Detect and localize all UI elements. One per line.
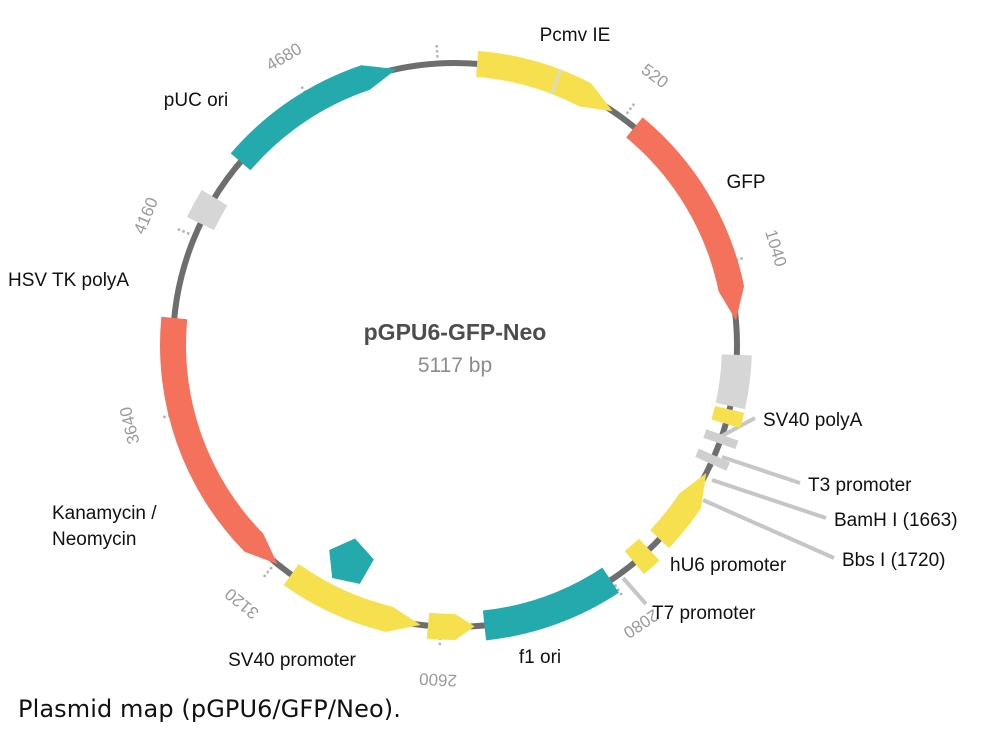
feature-hu6-promoter[interactable] — [650, 473, 706, 548]
plasmid-diagram: 5201040208026003120364041604680 Pcmv IEG… — [0, 0, 982, 692]
feature-label-hu6-promoter: hU6 promoter — [670, 555, 787, 576]
restriction-site-tick[interactable] — [697, 453, 728, 467]
feature-label-t7-promoter: T7 promoter — [652, 603, 756, 624]
feature-label-puc-ori: pUC ori — [164, 90, 228, 111]
plasmid-map-figure: 5201040208026003120364041604680 Pcmv IEG… — [0, 0, 982, 744]
tick-label-3120: 3120 — [221, 584, 262, 623]
feature-label-kanamycin-neomycin: Kanamycin /Neomycin — [52, 503, 157, 550]
position-tick-520 — [627, 103, 635, 114]
orphan-pentagon[interactable] — [324, 534, 378, 586]
leader-line — [703, 500, 834, 558]
feature-label-t3-promoter: T3 promoter — [808, 475, 912, 496]
label-layer: Pcmv IEGFPSV40 polyAT3 promoterhU6 promo… — [8, 25, 958, 671]
feature-kanamycin-neomycin[interactable] — [160, 317, 278, 564]
tick-label-4680: 4680 — [263, 39, 305, 75]
tick-label-3640: 3640 — [116, 405, 144, 446]
feature-gfp[interactable] — [626, 117, 744, 320]
restriction-site-tick[interactable] — [705, 433, 737, 444]
feature-label-sv40-promoter: SV40 promoter — [228, 650, 356, 671]
feature-label-gfp: GFP — [726, 172, 765, 193]
feature-pcmv-ie[interactable] — [476, 51, 613, 111]
tick-label-2600: 2600 — [419, 669, 458, 690]
position-tick-4160 — [176, 228, 189, 233]
feature-puc-ori[interactable] — [231, 65, 397, 170]
feature-layer — [160, 51, 752, 640]
leader-line — [722, 457, 800, 483]
figure-caption: Plasmid map (pGPU6/GFP/Neo). — [18, 695, 401, 723]
feature-label-sv40-polya: SV40 polyA — [763, 410, 863, 431]
tick-label-1040: 1040 — [761, 227, 790, 269]
tick-label-4160: 4160 — [130, 195, 162, 237]
restriction-site-label: Bbs I (1720) — [842, 550, 946, 571]
feature-label-hsv-tk-polya: HSV TK polyA — [8, 270, 129, 291]
position-tick-origin — [437, 44, 438, 58]
feature-label-f1-ori: f1 ori — [519, 647, 561, 668]
feature-label-pcmv-ie: Pcmv IE — [540, 25, 611, 46]
tick-label-520: 520 — [638, 60, 672, 92]
position-tick-3120 — [263, 567, 272, 578]
leader-line — [623, 578, 646, 604]
feature-sv40-polya[interactable] — [716, 354, 752, 409]
feature-unnamed-small-arrow[interactable] — [427, 613, 475, 640]
plasmid-name: pGPU6-GFP-Neo — [364, 319, 547, 345]
orphan-marker-layer — [324, 534, 378, 586]
restriction-site-label: BamH I (1663) — [834, 510, 958, 531]
feature-f1-ori[interactable] — [483, 568, 619, 641]
feature-hsv-tk-polya[interactable] — [187, 190, 227, 230]
plasmid-size: 5117 bp — [418, 354, 492, 377]
